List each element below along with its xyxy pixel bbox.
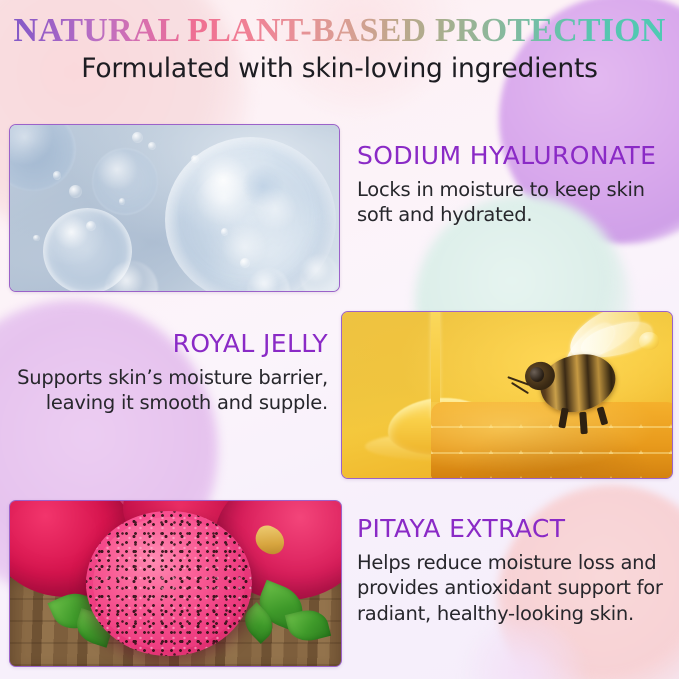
ingredient-infographic-poster: NATURAL PLANT-BASED PROTECTION Formulate…	[0, 0, 679, 679]
bubbles-illustration	[10, 125, 339, 291]
poster-header: NATURAL PLANT-BASED PROTECTION Formulate…	[0, 0, 679, 84]
bubble-top-left	[9, 124, 76, 191]
micro-bubble	[148, 142, 156, 150]
ingredient-text-royal-jelly: ROYAL JELLY Supports skin’s moisture bar…	[10, 330, 328, 416]
dragonfruit-seed-specks	[86, 511, 252, 656]
page-title: NATURAL PLANT-BASED PROTECTION	[0, 0, 679, 49]
micro-bubble	[119, 198, 126, 205]
micro-bubble	[240, 258, 250, 268]
ingredient-title-royal-jelly: ROYAL JELLY	[10, 330, 328, 358]
ingredient-body-sodium-hyaluronate: Locks in moisture to keep skin soft and …	[357, 177, 672, 229]
ingredient-text-sodium-hyaluronate: SODIUM HYALURONATE Locks in moisture to …	[357, 142, 672, 228]
ingredient-body-royal-jelly: Supports skin’s moisture barrier, leavin…	[10, 365, 328, 417]
pitaya-dragonfruit-photo	[9, 500, 342, 667]
micro-bubble	[86, 221, 96, 231]
honeycomb	[431, 402, 673, 479]
micro-bubble	[132, 132, 144, 144]
honey-illustration	[342, 312, 672, 478]
micro-bubble	[69, 185, 82, 198]
bubble-bottom-3	[300, 254, 339, 292]
dragonfruit-halved	[86, 511, 252, 656]
ingredient-text-pitaya-extract: PITAYA EXTRACT Helps reduce moisture los…	[357, 515, 672, 627]
ingredient-title-sodium-hyaluronate: SODIUM HYALURONATE	[357, 142, 672, 170]
micro-bubble	[53, 171, 61, 179]
hyaluronic-bubbles-photo	[9, 124, 340, 292]
page-subtitle: Formulated with skin-loving ingredients	[0, 53, 679, 84]
ingredient-title-pitaya-extract: PITAYA EXTRACT	[357, 515, 672, 543]
bubble-top-middle	[92, 148, 158, 214]
pitaya-illustration	[10, 501, 341, 666]
honey-bee-photo	[341, 311, 673, 479]
bee-leg	[579, 411, 588, 433]
micro-bubble	[33, 235, 40, 242]
ingredient-body-pitaya-extract: Helps reduce moisture loss and provides …	[357, 550, 672, 628]
